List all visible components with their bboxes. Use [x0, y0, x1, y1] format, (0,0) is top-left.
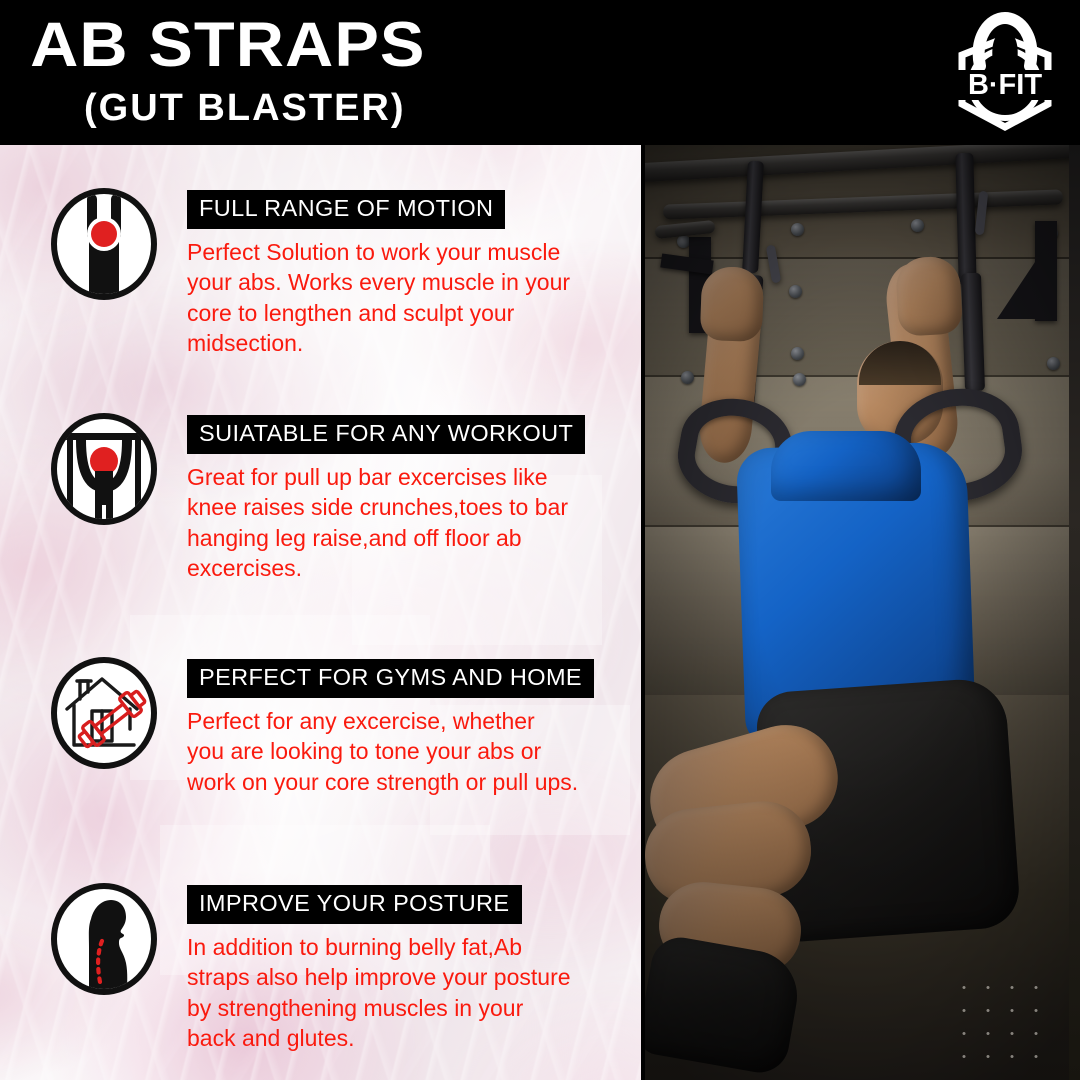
feature-item-perfect-for-gyms-and-home: PERFECT FOR GYMS AND HOME Perfect for an…: [50, 657, 594, 797]
logo-text: B·FIT: [968, 69, 1042, 101]
title-block: AB STRAPS (GUT BLASTER): [28, 14, 788, 127]
feature-description: In addition to burning belly fat,Ab stra…: [187, 932, 571, 1054]
posture-spine-icon: [50, 883, 158, 995]
pullup-bar-person-icon: [50, 413, 158, 525]
features-panel: FULL RANGE OF MOTION Perfect Solution to…: [0, 145, 641, 1080]
feature-content: IMPROVE YOUR POSTURE In addition to burn…: [187, 883, 571, 1054]
product-photo-panel: [641, 145, 1080, 1080]
feature-description: Perfect for any excercise, whether you a…: [187, 706, 594, 798]
feature-item-suiatable-for-any-workout: SUIATABLE FOR ANY WORKOUT Great for pull…: [50, 413, 585, 584]
feature-heading: FULL RANGE OF MOTION: [187, 190, 505, 229]
feature-content: PERFECT FOR GYMS AND HOME Perfect for an…: [187, 657, 594, 797]
feature-content: FULL RANGE OF MOTION Perfect Solution to…: [187, 188, 570, 359]
feature-item-full-range-of-motion: FULL RANGE OF MOTION Perfect Solution to…: [50, 188, 570, 359]
feature-description: Great for pull up bar excercises like kn…: [187, 462, 585, 584]
page-title: AB STRAPS: [28, 14, 834, 77]
dot-grid-overlay: [952, 976, 1048, 1060]
bfit-kettlebell-logo: B·FIT: [944, 8, 1066, 136]
page-subtitle: (GUT BLASTER): [28, 89, 788, 127]
hanging-torso-icon: [50, 188, 158, 300]
header-bar: AB STRAPS (GUT BLASTER) B·FIT: [0, 0, 1080, 145]
athlete-hanging-ab-straps-photo: [645, 145, 1070, 1080]
feature-description: Perfect Solution to work your muscle you…: [187, 237, 570, 359]
right-edge-strip: [1069, 145, 1080, 1080]
photo-vignette: [645, 145, 1070, 1080]
feature-heading: PERFECT FOR GYMS AND HOME: [187, 659, 594, 698]
poster-root: AB STRAPS (GUT BLASTER) B·FIT: [0, 0, 1080, 1080]
feature-heading: SUIATABLE FOR ANY WORKOUT: [187, 415, 585, 454]
house-dumbbell-icon: [50, 657, 158, 769]
feature-content: SUIATABLE FOR ANY WORKOUT Great for pull…: [187, 413, 585, 584]
feature-item-improve-your-posture: IMPROVE YOUR POSTURE In addition to burn…: [50, 883, 571, 1054]
feature-heading: IMPROVE YOUR POSTURE: [187, 885, 522, 924]
